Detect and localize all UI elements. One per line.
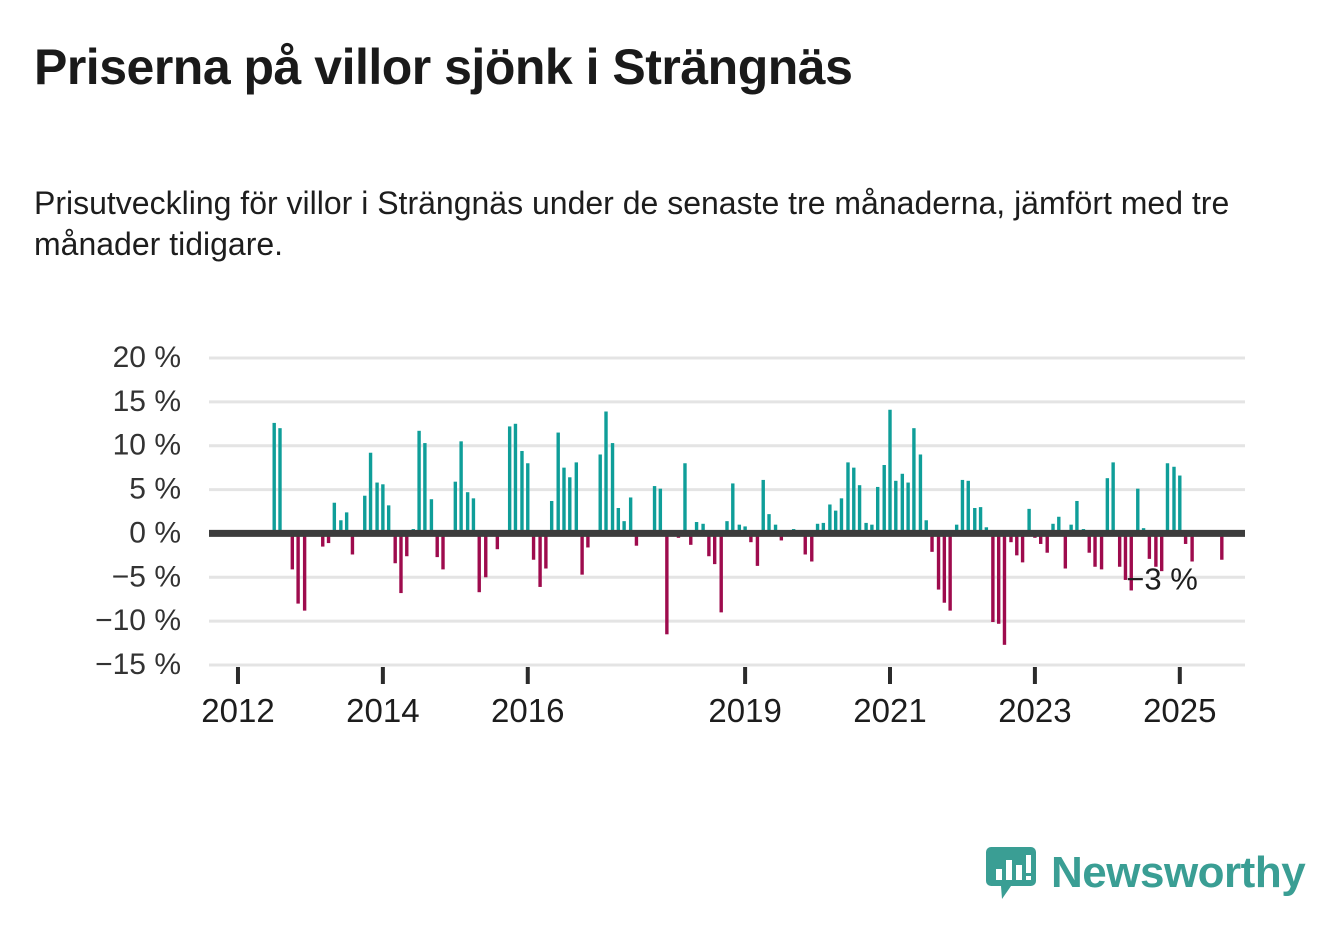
chart-container: 20 %15 %10 %5 %0 %−5 %−10 %−15 %20122014… [0,330,1322,740]
bar [1178,476,1181,534]
logo-wordmark: Newsworthy [1051,851,1305,895]
bar [937,533,940,589]
x-axis-tick-label: 2021 [853,692,926,729]
bar [653,486,656,533]
y-axis-tick-label: 10 % [113,429,181,462]
bar [363,496,366,534]
bar [629,497,632,533]
bar [919,454,922,533]
bar [1136,489,1139,534]
bar [1003,533,1006,644]
bar [948,533,951,610]
bar-chart-speech-bubble-icon [985,845,1037,901]
bar [436,533,439,557]
bar [912,428,915,533]
x-axis-tick-label: 2012 [201,692,274,729]
bar [713,533,716,564]
bar [568,477,571,533]
bar [466,492,469,533]
bar [810,533,813,561]
bar [762,480,765,534]
bar [544,533,547,568]
bar [973,508,976,533]
bar [894,481,897,534]
chart-subtitle: Prisutveckling för villor i Strängnäs un… [34,183,1254,265]
bar [399,533,402,593]
bar [387,505,390,533]
bar [943,533,946,602]
page-title: Priserna på villor sjönk i Strängnäs [34,40,1284,95]
bar [278,428,281,533]
bar [1027,509,1030,534]
bar [1111,462,1114,533]
bar [532,533,535,559]
bar-chart: 20 %15 %10 %5 %0 %−5 %−10 %−15 %20122014… [0,330,1322,740]
bar [883,465,886,533]
x-axis-tick-label: 2023 [998,692,1071,729]
bar [876,487,879,533]
bar [333,503,336,534]
bar [604,412,607,534]
y-axis-tick-label: −10 % [95,604,181,637]
bar [441,533,444,569]
bar [720,533,723,612]
x-axis-tick-label: 2016 [491,692,564,729]
bar [1064,533,1067,568]
bar [520,451,523,533]
bar [906,483,909,534]
bar [828,504,831,533]
bar [1106,478,1109,533]
bar [967,481,970,534]
x-axis-tick-label: 2019 [708,692,781,729]
bar [526,463,529,533]
bar [1118,533,1121,566]
bar [381,484,384,533]
bar [756,533,759,565]
bar [514,424,517,534]
bar [484,533,487,577]
bar [888,410,891,534]
x-axis-tick-label: 2014 [346,692,419,729]
bar [1100,533,1103,569]
bar [961,480,964,534]
y-axis-tick-label: −15 % [95,648,181,681]
y-axis-tick-label: 5 % [129,473,181,506]
bar [472,498,475,533]
bar [562,468,565,534]
bar [991,533,994,622]
bar [538,533,541,587]
chart-page: Priserna på villor sjönk i Strängnäs Pri… [0,0,1322,939]
bar [1172,467,1175,534]
bar [852,468,855,534]
bar [846,462,849,533]
bar [459,441,462,533]
bar [508,426,511,533]
bar [665,533,668,634]
bar [393,533,396,563]
bar [901,474,904,534]
bar [303,533,306,610]
bar [1021,533,1024,562]
bar [556,433,559,534]
bar [454,482,457,534]
bar [580,533,583,574]
bar [1093,533,1096,566]
y-axis-tick-label: 20 % [113,341,181,374]
bar [1220,533,1223,559]
bar [1075,501,1078,533]
bar [683,463,686,533]
bar [1166,463,1169,533]
bar [296,533,299,603]
bar [478,533,481,592]
y-axis-tick-label: 15 % [113,385,181,418]
newsworthy-logo: Newsworthy [985,845,1305,901]
bar [659,489,662,534]
bar [1148,533,1151,558]
x-axis-tick-label: 2025 [1143,692,1216,729]
bar [417,431,420,534]
bar [997,533,1000,623]
bar [1190,533,1193,561]
bar [375,483,378,534]
last-value-annotation: −3 % [1126,561,1198,596]
bar [611,443,614,533]
bar [369,453,372,534]
bar [617,508,620,533]
bar [599,454,602,533]
y-axis-tick-label: −5 % [112,560,181,593]
bar [550,501,553,533]
bar [423,443,426,533]
bar [858,485,861,533]
bar [430,499,433,533]
bar [979,507,982,533]
bar [273,423,276,534]
bar [291,533,294,569]
bar [840,498,843,533]
bar [731,483,734,533]
y-axis-tick-label: 0 % [129,516,181,549]
bar [575,462,578,533]
